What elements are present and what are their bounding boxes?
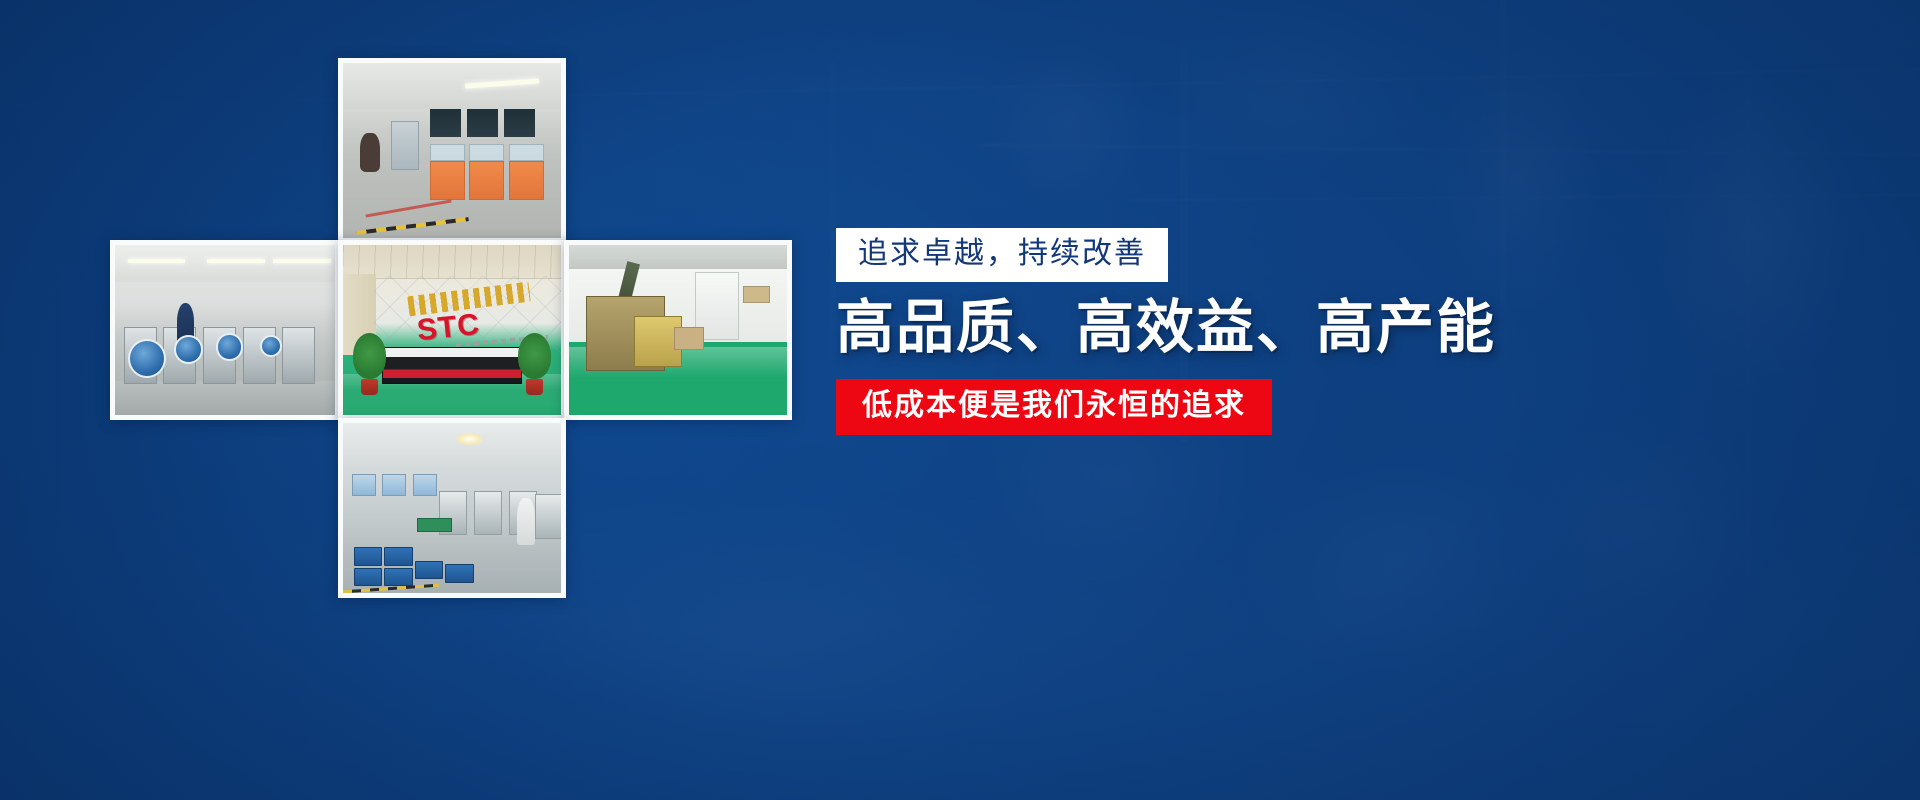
hero-banner: STC bbox=[0, 0, 1920, 800]
collage-photo-center-stc: STC bbox=[338, 240, 566, 420]
collage-photo-bottom bbox=[338, 418, 566, 598]
collage-photo-top bbox=[338, 58, 566, 243]
collage-photo-left bbox=[110, 240, 340, 420]
tagline-text: 追求卓越，持续改善 bbox=[836, 228, 1168, 282]
page-title: 高品质、高效益、高产能 bbox=[836, 296, 1596, 361]
slogan-text: 低成本便是我们永恒的追求 bbox=[836, 379, 1272, 435]
hero-copy: 追求卓越，持续改善 高品质、高效益、高产能 低成本便是我们永恒的追求 bbox=[836, 228, 1596, 435]
tagline-wrapper: 追求卓越，持续改善 bbox=[836, 228, 1168, 282]
photo-collage: STC bbox=[0, 0, 820, 800]
collage-photo-right bbox=[564, 240, 792, 420]
slogan-wrapper: 低成本便是我们永恒的追求 bbox=[836, 379, 1272, 435]
